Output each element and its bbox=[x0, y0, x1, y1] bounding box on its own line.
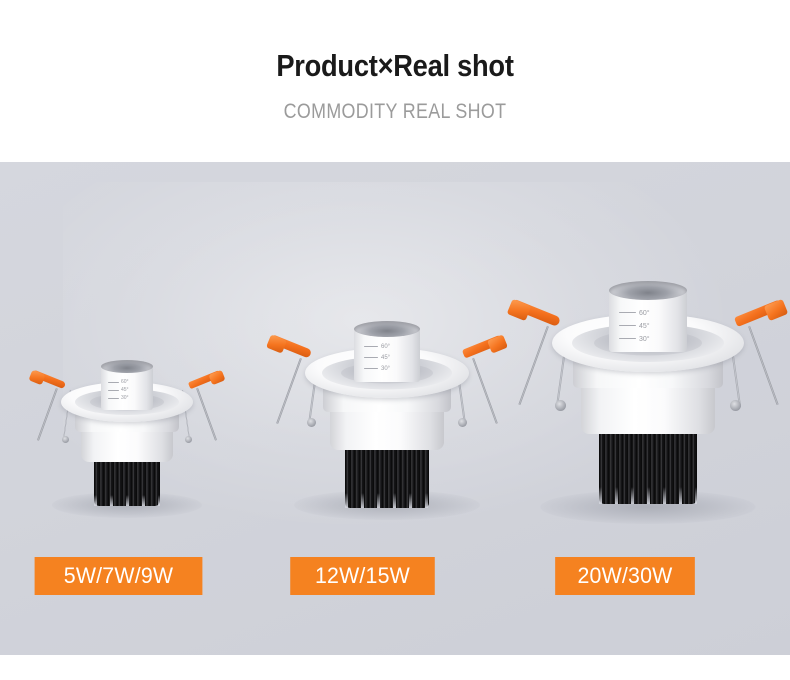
wattage-badge-small[interactable]: 5W/7W/9W bbox=[35, 557, 203, 595]
clip-head bbox=[764, 299, 789, 321]
page-header: Product×Real shot COMMODITY REAL SHOT bbox=[0, 0, 790, 162]
scale-tick bbox=[619, 312, 636, 313]
clip-pivot bbox=[62, 436, 69, 443]
clip-wire bbox=[748, 326, 779, 406]
page-title: Product×Real shot bbox=[47, 48, 742, 84]
scale-label: 30° bbox=[639, 336, 650, 343]
scale-label: 45° bbox=[381, 355, 390, 361]
clip-pivot bbox=[458, 418, 467, 427]
clip-wire bbox=[276, 358, 302, 424]
scale-tick bbox=[364, 357, 378, 358]
product-showcase-stage: 60° 45° 30° bbox=[0, 162, 790, 655]
product-image-downlight-medium: 60° 45° 30° bbox=[262, 312, 512, 512]
scale-label: 60° bbox=[121, 380, 129, 385]
clip-head bbox=[507, 299, 532, 321]
wattage-badge-large[interactable]: 20W/30W bbox=[555, 557, 695, 595]
angle-scale: 60° 45° 30° bbox=[364, 344, 414, 382]
clip-head bbox=[266, 334, 287, 353]
angle-scale: 60° 45° 30° bbox=[619, 310, 675, 354]
wattage-badge-medium[interactable]: 12W/15W bbox=[290, 557, 435, 595]
scale-tick bbox=[364, 368, 378, 369]
clip-pivot bbox=[555, 400, 566, 411]
scale-label: 45° bbox=[639, 323, 650, 330]
page-subtitle: COMMODITY REAL SHOT bbox=[59, 100, 731, 124]
heatsink-fins bbox=[345, 442, 429, 508]
heatsink-fins bbox=[94, 456, 160, 506]
scale-label: 30° bbox=[121, 396, 129, 401]
clip-head bbox=[28, 370, 45, 385]
angle-scale: 60° 45° 30° bbox=[108, 380, 150, 410]
scale-label: 30° bbox=[381, 366, 390, 372]
scale-tick bbox=[108, 390, 119, 391]
barrel-aperture bbox=[609, 281, 687, 300]
clip-wire bbox=[37, 388, 58, 441]
scale-tick bbox=[619, 338, 636, 339]
heatsink-fins bbox=[599, 426, 697, 504]
scale-tick bbox=[619, 325, 636, 326]
barrel-aperture bbox=[101, 360, 153, 373]
scale-tick bbox=[108, 398, 119, 399]
scale-tick bbox=[108, 382, 119, 383]
clip-wire bbox=[472, 358, 498, 424]
clip-pivot bbox=[185, 436, 192, 443]
product-image-downlight-large: 60° 45° 30° bbox=[505, 274, 790, 514]
scale-label: 60° bbox=[639, 310, 650, 317]
barrel-aperture bbox=[354, 321, 420, 337]
scale-label: 60° bbox=[381, 344, 390, 350]
clip-wire bbox=[196, 388, 217, 441]
product-image-downlight-small: 60° 45° 30° bbox=[22, 352, 232, 512]
clip-pivot bbox=[730, 400, 741, 411]
scale-tick bbox=[364, 346, 378, 347]
clip-pivot bbox=[307, 418, 316, 427]
scale-label: 45° bbox=[121, 388, 129, 393]
clip-wire bbox=[518, 326, 549, 406]
